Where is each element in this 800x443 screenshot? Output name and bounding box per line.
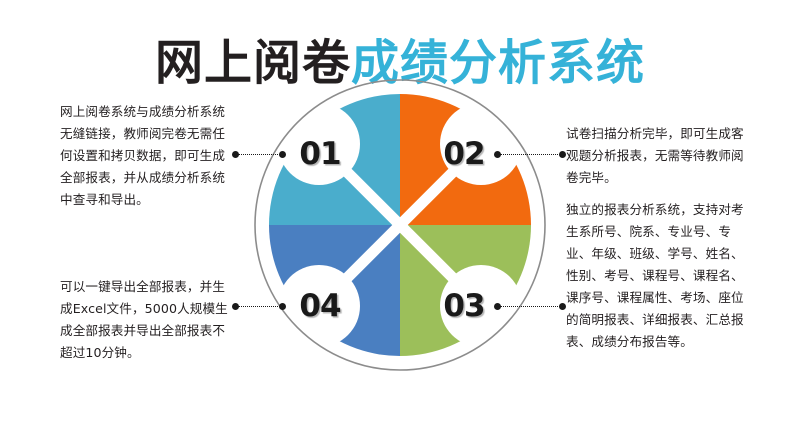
connector-line-04 (232, 302, 286, 312)
connector-dash-01 (238, 154, 280, 155)
connector-dot-outer-03 (559, 303, 566, 310)
callout-text-01: 网上阅卷系统与成绩分析系统无缝链接，教师阅完卷无需任何设置和拷贝数据，即可生成全… (60, 101, 232, 211)
connector-line-01 (232, 150, 286, 160)
callout-text-03: 独立的报表分析系统，支持对考生系所号、院系、专业号、专业、年级、班级、学号、姓名… (566, 199, 744, 353)
connector-dash-02 (500, 154, 560, 155)
diagram-svg (252, 77, 548, 373)
callout-text-02: 试卷扫描分析完毕，即可生成客观题分析报表，无需等待教师阅卷完毕。 (566, 123, 744, 189)
connector-dash-04 (238, 306, 280, 307)
segment-number-03: 03 (434, 290, 494, 322)
connector-dot-inner-01 (279, 151, 286, 158)
segment-number-02: 02 (434, 138, 494, 170)
segment-number-01: 01 (290, 138, 350, 170)
connector-dot-inner-04 (279, 303, 286, 310)
connector-line-02 (494, 150, 566, 160)
connector-line-03 (494, 302, 566, 312)
four-petal-diagram (252, 77, 548, 373)
callout-text-04: 可以一键导出全部报表，并生成Excel文件，5000人规模生成全部报表并导出全部… (60, 276, 232, 364)
connector-dot-outer-02 (559, 151, 566, 158)
connector-dash-03 (500, 306, 560, 307)
infographic-page: 网上阅卷成绩分析系统 (0, 0, 800, 443)
segment-number-04: 04 (290, 290, 350, 322)
